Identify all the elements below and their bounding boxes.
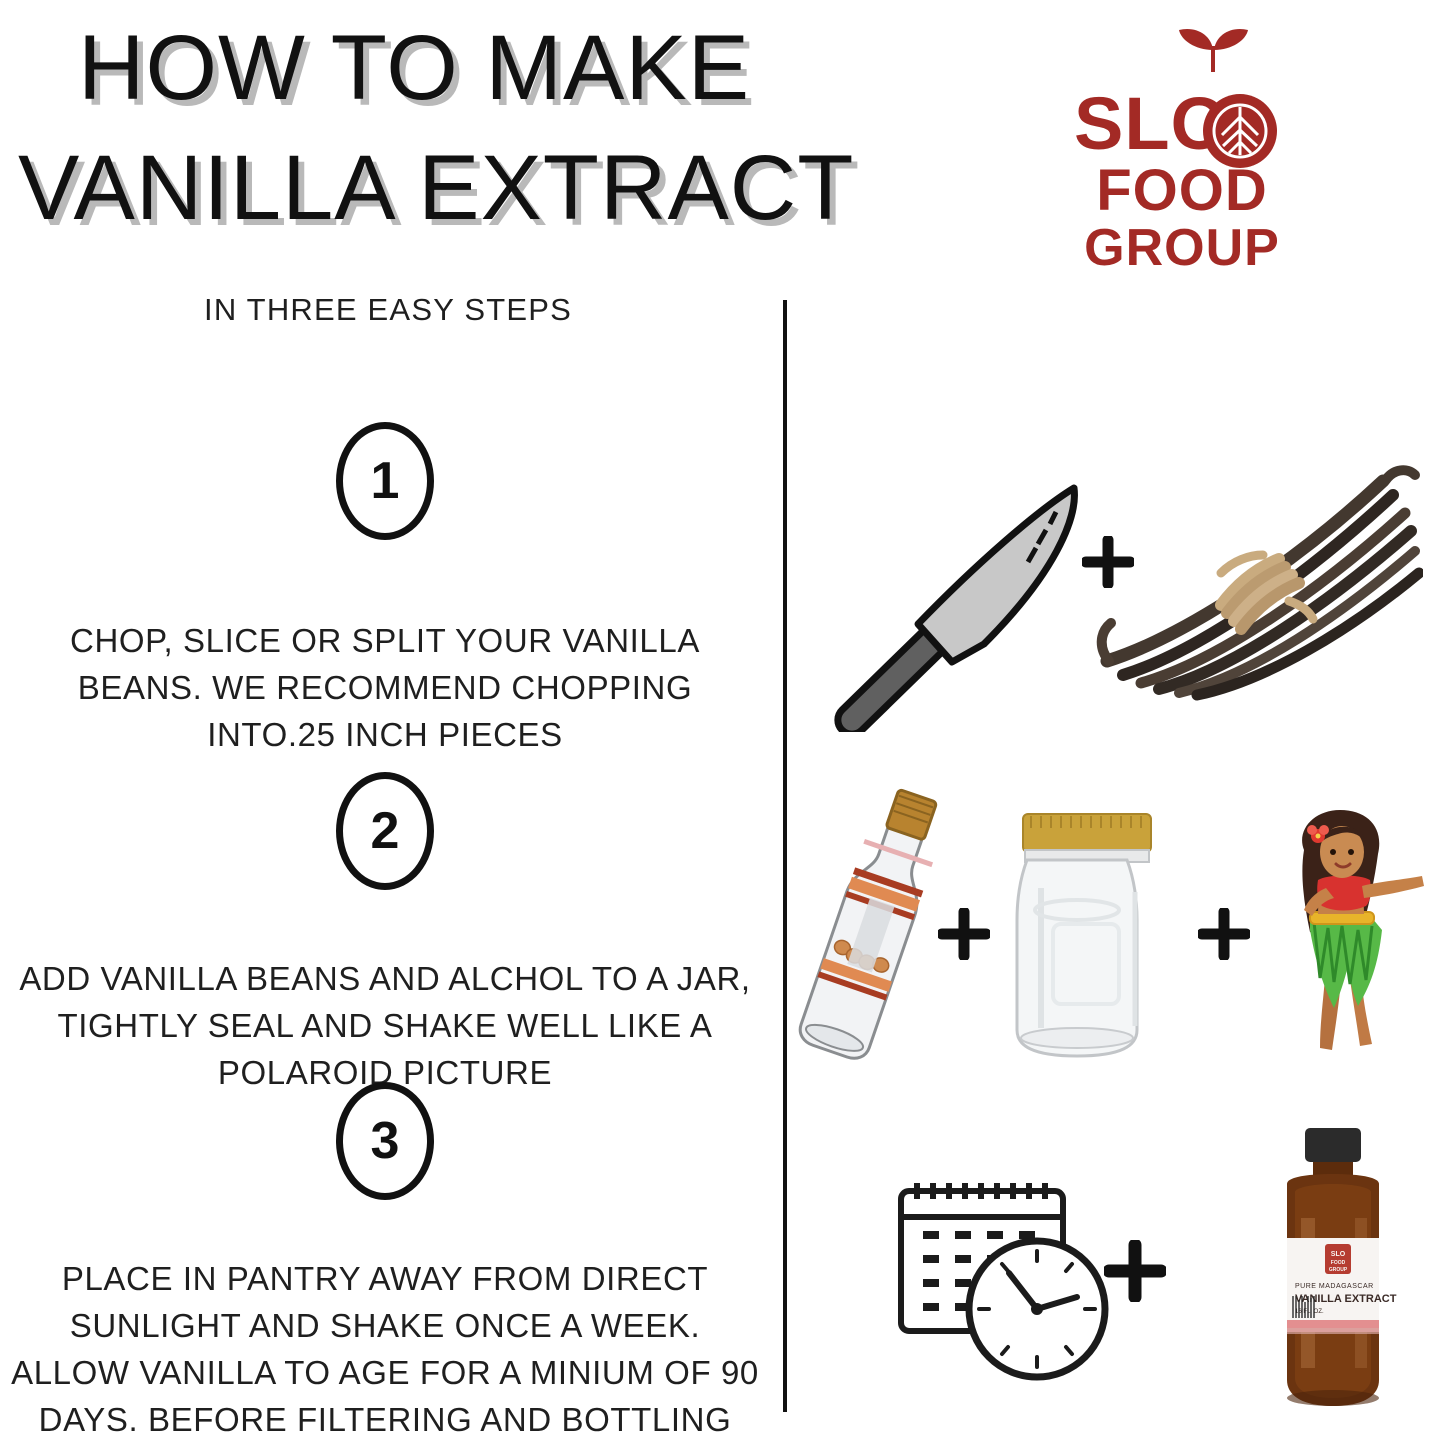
calendar-clock-illustration (885, 1165, 1115, 1390)
page-title: HOW TO MAKE VANILLA EXTRACT (0, 8, 930, 248)
step-3: 3 PLACE IN PANTRY AWAY FROM DIRECT SUNLI… (0, 1082, 770, 1443)
step-2: 2 ADD VANILLA BEANS AND ALCHOL TO A JAR,… (0, 772, 770, 1097)
step-text-3: PLACE IN PANTRY AWAY FROM DIRECT SUNLIGH… (0, 1256, 770, 1443)
tomato-o-icon (1199, 90, 1281, 172)
vertical-divider (783, 300, 787, 1412)
step-number-badge-2: 2 (336, 772, 434, 890)
bottle-label-group: GROUP (1329, 1267, 1348, 1273)
bottle-label-slo: SLO (1331, 1251, 1346, 1258)
vanilla-bean-bundle-illustration (1093, 455, 1423, 705)
subtitle: IN THREE EASY STEPS (88, 292, 688, 328)
logo-line-group: GROUP (1062, 225, 1302, 273)
slo-food-group-logo: SLO FOOD GROUP (1062, 28, 1302, 278)
step-number-badge-3: 3 (336, 1082, 434, 1200)
plus-operator-row2-a (938, 908, 990, 960)
hula-dancer-illustration (1252, 800, 1437, 1070)
bottle-label-product: VANILLA EXTRACT (1295, 1293, 1397, 1305)
plus-operator-row3 (1104, 1240, 1166, 1302)
chef-knife-illustration (806, 452, 1106, 732)
title-line-1: HOW TO MAKE (0, 8, 930, 128)
infographic-page: HOW TO MAKE VANILLA EXTRACT IN THREE EAS… (0, 0, 1445, 1445)
step-text-1: CHOP, SLICE OR SPLIT YOUR VANILLA BEANS.… (0, 618, 770, 759)
step-1: 1 CHOP, SLICE OR SPLIT YOUR VANILLA BEAN… (0, 422, 770, 759)
mason-jar-illustration (995, 800, 1180, 1065)
vanilla-extract-bottle-illustration: SLO FOOD GROUP PURE MADAGASCAR VANILLA E… (1243, 1122, 1423, 1417)
step-number-badge-1: 1 (336, 422, 434, 540)
plus-operator-row2-b (1198, 908, 1250, 960)
step-text-2: ADD VANILLA BEANS AND ALCHOL TO A JAR, T… (0, 956, 770, 1097)
logo-line-food: FOOD (1062, 164, 1302, 217)
bottle-label-descriptor: PURE MADAGASCAR (1295, 1283, 1374, 1290)
bottle-label-food: FOOD (1331, 1260, 1346, 1266)
title-line-2: VANILLA EXTRACT (0, 128, 930, 248)
